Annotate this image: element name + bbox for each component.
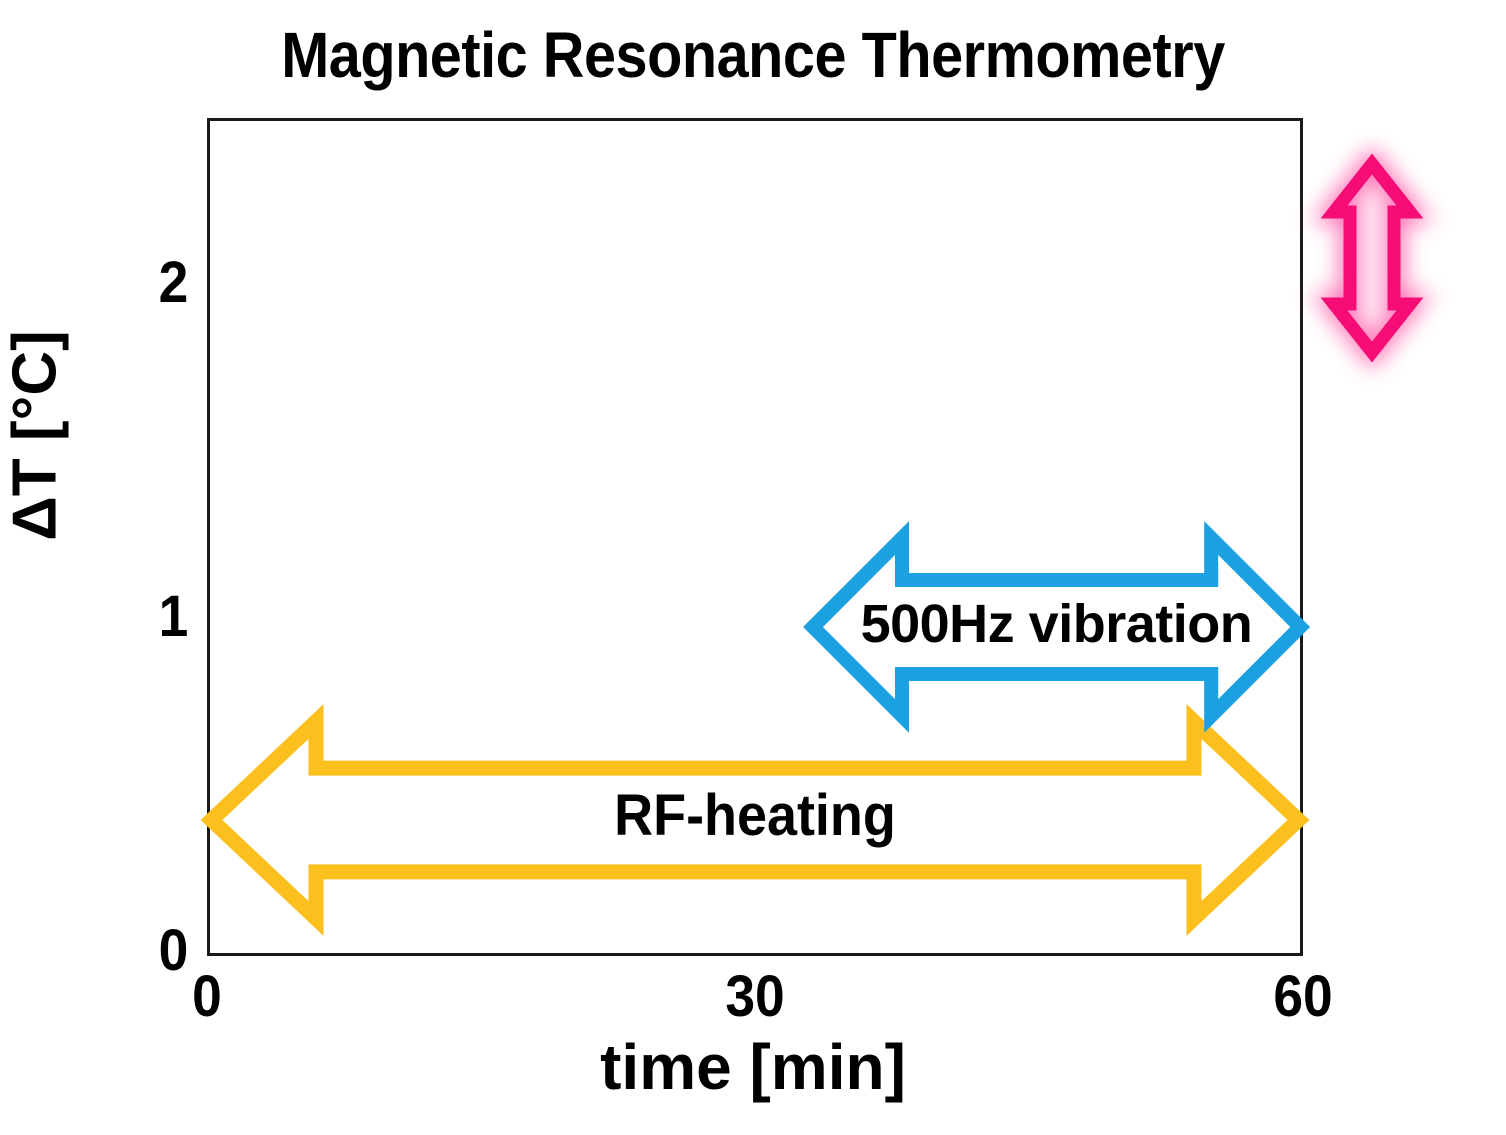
- chart-figure: Magnetic Resonance Thermometry ΔT [°C] t…: [0, 0, 1506, 1135]
- x-tick-label: 0: [124, 968, 290, 1026]
- x-tick-label: 30: [672, 968, 838, 1026]
- rf-heating-label: RF-heating: [243, 782, 1268, 849]
- chart-title: Magnetic Resonance Thermometry: [75, 18, 1430, 92]
- vibration-label: 500Hz vibration: [806, 593, 1307, 655]
- y-tick-label: 2: [158, 254, 188, 312]
- y-axis-title: ΔT [°C]: [0, 236, 71, 636]
- x-tick-label: 60: [1220, 968, 1386, 1026]
- x-axis-title: time [min]: [0, 1030, 1506, 1104]
- vertical-double-arrow: [1322, 158, 1422, 358]
- y-tick-label: 1: [158, 588, 188, 646]
